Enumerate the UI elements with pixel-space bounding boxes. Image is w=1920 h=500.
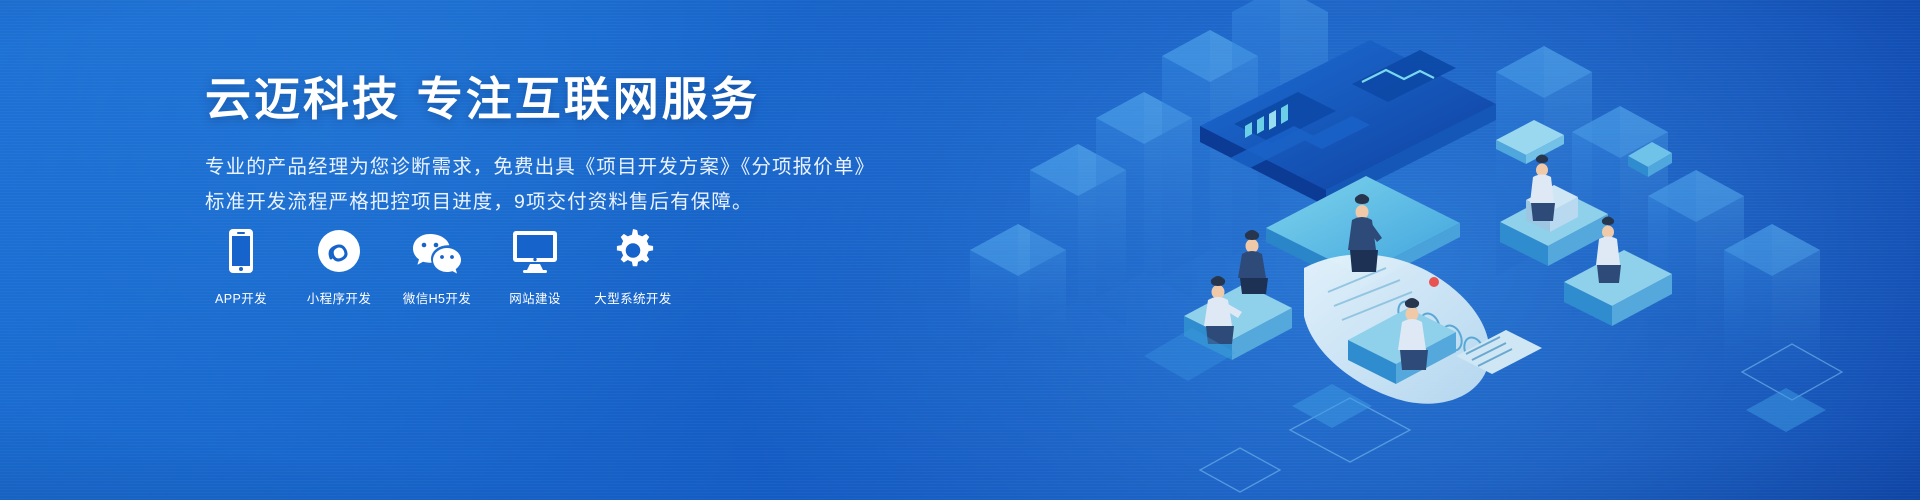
service-label: 大型系统开发 <box>594 288 671 307</box>
gear-icon <box>610 228 656 274</box>
subtitle-line-1: 专业的产品经理为您诊断需求，免费出具《项目开发方案》《分项报价单》 <box>205 150 905 185</box>
service-label: 微信H5开发 <box>403 288 471 307</box>
subtitle-line-2: 标准开发流程严格把控项目进度，9项交付资料售后有保障。 <box>205 185 905 220</box>
service-item-large-system[interactable]: 大型系统开发 <box>597 228 669 307</box>
service-item-app[interactable]: APP开发 <box>205 228 277 307</box>
wechat-icon <box>411 228 463 274</box>
service-label: 小程序开发 <box>307 288 372 307</box>
monitor-icon <box>511 228 559 274</box>
service-list: APP开发 小程序开发 微信 <box>205 228 669 307</box>
mini-program-icon <box>317 228 361 274</box>
service-label: 网站建设 <box>509 288 561 307</box>
banner-subtitle: 专业的产品经理为您诊断需求，免费出具《项目开发方案》《分项报价单》 标准开发流程… <box>205 150 905 219</box>
service-item-website[interactable]: 网站建设 <box>499 228 571 307</box>
service-item-mini-program[interactable]: 小程序开发 <box>303 228 375 307</box>
page-title: 云迈科技 专注互联网服务 <box>205 72 905 126</box>
isometric-illustration <box>900 0 1920 500</box>
hero-banner: 云迈科技 专注互联网服务 专业的产品经理为您诊断需求，免费出具《项目开发方案》《… <box>0 0 1920 500</box>
mobile-phone-icon <box>226 228 256 274</box>
service-label: APP开发 <box>215 288 267 307</box>
banner-copy: 云迈科技 专注互联网服务 专业的产品经理为您诊断需求，免费出具《项目开发方案》《… <box>205 72 905 220</box>
service-item-wechat-h5[interactable]: 微信H5开发 <box>401 228 473 307</box>
